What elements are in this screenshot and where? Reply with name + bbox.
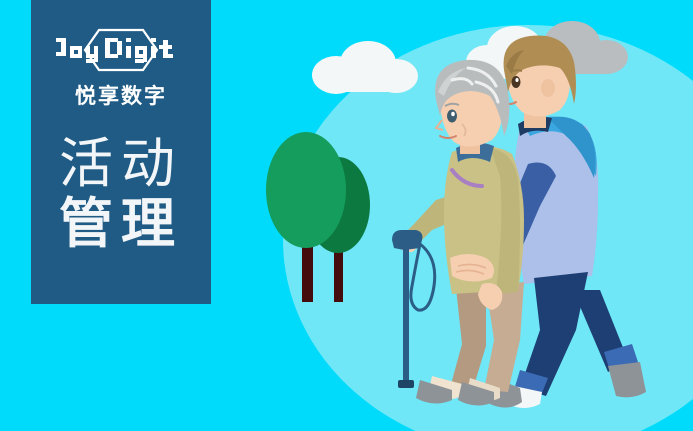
man-ear [541,79,555,97]
brand-chinese-name: 悦享数字 [31,84,211,110]
man-eye-glint [515,78,518,82]
page-title: 活动 管理 [31,134,211,254]
woman-eye-glint [451,112,455,116]
man-eye [512,76,521,88]
cane-tip [398,380,414,388]
title-line-1: 活动 [31,134,211,194]
woman-eye [447,110,457,123]
title-line-2: 管理 [31,194,211,254]
brand-panel: 悦享数字 活动 管理 [31,0,211,304]
logo [31,26,211,72]
poster-canvas: 悦享数字 活动 管理 [0,0,693,431]
cane-handle [392,230,422,250]
joydigit-logo-icon [53,26,189,74]
